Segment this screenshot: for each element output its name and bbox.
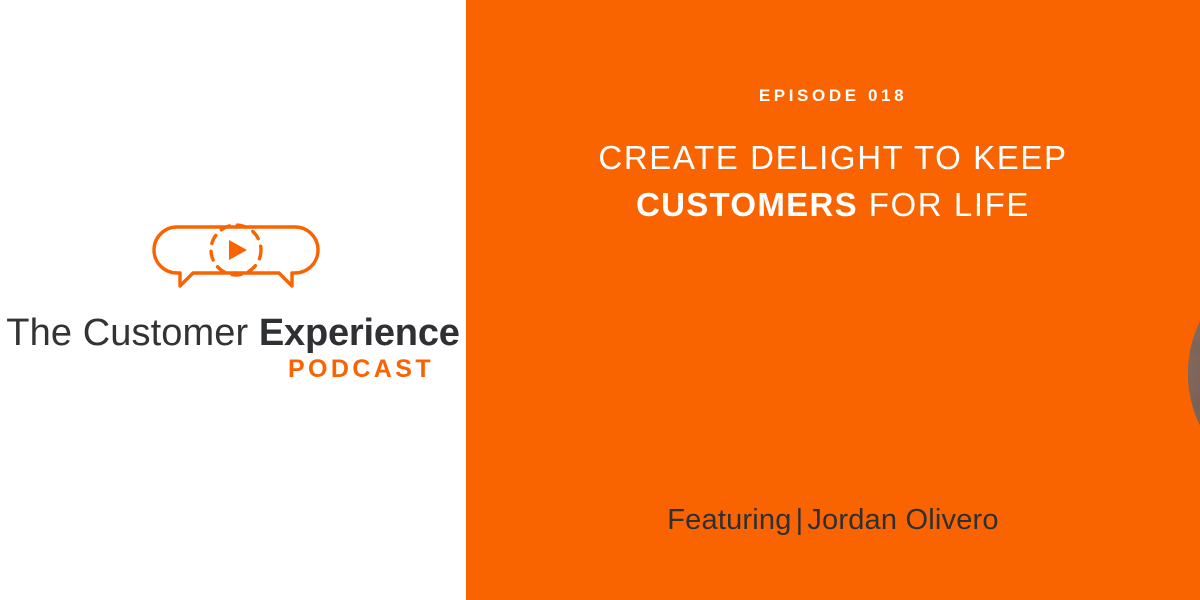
guest-portrait-image bbox=[1188, 255, 1200, 492]
episode-title-line-1-text: CREATE DELIGHT TO KEEP bbox=[598, 139, 1067, 176]
podcast-speech-bubbles-play-icon bbox=[143, 222, 329, 298]
wordmark-sub: PODCAST bbox=[0, 357, 466, 382]
episode-title-line-2: CUSTOMERS FOR LIFE bbox=[466, 185, 1200, 232]
featuring-line: Featuring|Jordan Olivero bbox=[466, 504, 1200, 537]
featuring-label: Featuring bbox=[667, 504, 791, 536]
episode-panel: EPISODE 018 CREATE DELIGHT TO KEEP CUSTO… bbox=[466, 0, 1200, 600]
brand-panel: The Customer Experience PODCAST bbox=[0, 0, 466, 600]
wordmark-podcast-text: PODCAST bbox=[288, 355, 434, 383]
podcast-episode-card: The Customer Experience PODCAST EPISODE … bbox=[0, 0, 1200, 600]
wordmark-light-text: The Customer bbox=[6, 312, 248, 354]
episode-title-keyword: CUSTOMERS bbox=[636, 186, 858, 223]
guest-portrait-avatar bbox=[1188, 255, 1200, 492]
featuring-separator: | bbox=[792, 504, 808, 536]
wordmark-bold-text: Experience bbox=[259, 312, 460, 354]
guest-name: Jordan Olivero bbox=[807, 504, 998, 536]
episode-title-line-1: CREATE DELIGHT TO KEEP bbox=[466, 138, 1200, 185]
wordmark: The Customer Experience bbox=[6, 314, 459, 352]
episode-title: CREATE DELIGHT TO KEEP CUSTOMERS FOR LIF… bbox=[466, 138, 1200, 232]
episode-number-label: EPISODE 018 bbox=[466, 86, 1200, 106]
episode-title-line-2-text: FOR LIFE bbox=[869, 186, 1030, 223]
brand-lockup: The Customer Experience PODCAST bbox=[0, 222, 466, 382]
